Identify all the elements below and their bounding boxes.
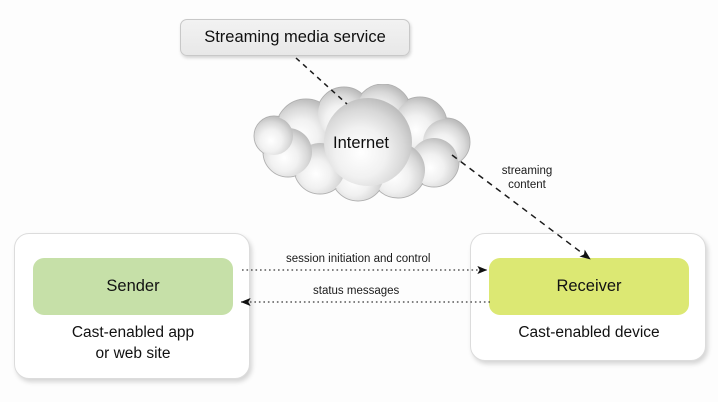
node-internet-cloud: Internet (248, 84, 474, 202)
edge-label-session-initiation: session initiation and control (286, 253, 430, 265)
diagram-canvas: Streaming media service (0, 0, 718, 402)
node-sender-card: Sender Cast-enabled app or web site (14, 233, 250, 379)
edge-label-streaming-content-line-2: content (494, 178, 560, 192)
internet-label: Internet (248, 134, 474, 153)
sender-caption: Cast-enabled app or web site (15, 322, 251, 364)
receiver-caption: Cast-enabled device (471, 322, 707, 343)
streaming-media-service-label: Streaming media service (204, 28, 386, 47)
receiver-label: Receiver (556, 277, 621, 296)
sender-caption-line-1: Cast-enabled app (15, 322, 251, 343)
sender-caption-line-2: or web site (15, 343, 251, 364)
sender-label: Sender (106, 277, 159, 296)
node-streaming-media-service: Streaming media service (180, 19, 410, 56)
node-receiver-card: Receiver Cast-enabled device (470, 233, 706, 361)
edge-label-status-messages: status messages (313, 285, 399, 297)
receiver-chip: Receiver (489, 258, 689, 315)
edge-label-streaming-content-line-1: streaming (494, 164, 560, 178)
edge-label-streaming-content: streaming content (494, 164, 560, 192)
sender-chip: Sender (33, 258, 233, 315)
receiver-caption-line-1: Cast-enabled device (471, 322, 707, 343)
